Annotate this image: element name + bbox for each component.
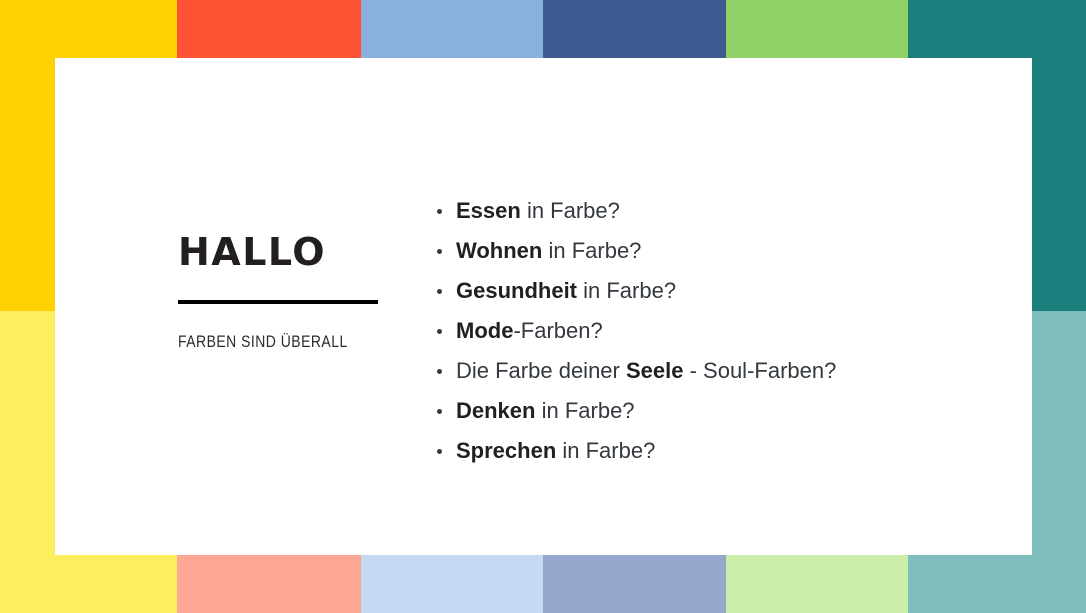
- list-item-rest: in Farbe?: [556, 438, 655, 463]
- list-item: Gesundheit in Farbe?: [437, 271, 997, 311]
- list-item-keyword: Seele: [626, 358, 684, 383]
- list-item-rest: in Farbe?: [535, 398, 634, 423]
- list-item: Essen in Farbe?: [437, 191, 997, 231]
- slide-canvas: HALLO FARBEN SIND ÜBERALL Essen in Farbe…: [0, 0, 1086, 613]
- list-item: Wohnen in Farbe?: [437, 231, 997, 271]
- bullet-dot-icon: [437, 329, 442, 334]
- bullet-dot-icon: [437, 369, 442, 374]
- list-item-lead: Die Farbe deiner: [456, 358, 626, 383]
- list-item: Die Farbe deiner Seele - Soul-Farben?: [437, 351, 997, 391]
- bullet-dot-icon: [437, 409, 442, 414]
- list-item-keyword: Sprechen: [456, 438, 556, 463]
- page-title: HALLO: [178, 233, 438, 271]
- title-column: HALLO FARBEN SIND ÜBERALL: [178, 233, 438, 352]
- list-item-rest: in Farbe?: [521, 198, 620, 223]
- list-item-keyword: Mode: [456, 318, 513, 343]
- page-subtitle: FARBEN SIND ÜBERALL: [178, 332, 391, 352]
- bullet-dot-icon: [437, 449, 442, 454]
- list-item-keyword: Gesundheit: [456, 278, 577, 303]
- bullet-dot-icon: [437, 289, 442, 294]
- list-item-keyword: Essen: [456, 198, 521, 223]
- bullet-dot-icon: [437, 249, 442, 254]
- list-item-rest: in Farbe?: [542, 238, 641, 263]
- list-item: Sprechen in Farbe?: [437, 431, 997, 471]
- list-item: Denken in Farbe?: [437, 391, 997, 431]
- list-item-rest: - Soul-Farben?: [683, 358, 836, 383]
- list-item-rest: in Farbe?: [577, 278, 676, 303]
- bullet-list: Essen in Farbe?Wohnen in Farbe?Gesundhei…: [437, 191, 997, 471]
- title-underline-rule: [178, 300, 378, 304]
- bullet-dot-icon: [437, 209, 442, 214]
- list-item-rest: -Farben?: [513, 318, 602, 343]
- content-card: HALLO FARBEN SIND ÜBERALL Essen in Farbe…: [55, 58, 1032, 555]
- list-item-keyword: Denken: [456, 398, 535, 423]
- list-item: Mode-Farben?: [437, 311, 997, 351]
- list-item-keyword: Wohnen: [456, 238, 542, 263]
